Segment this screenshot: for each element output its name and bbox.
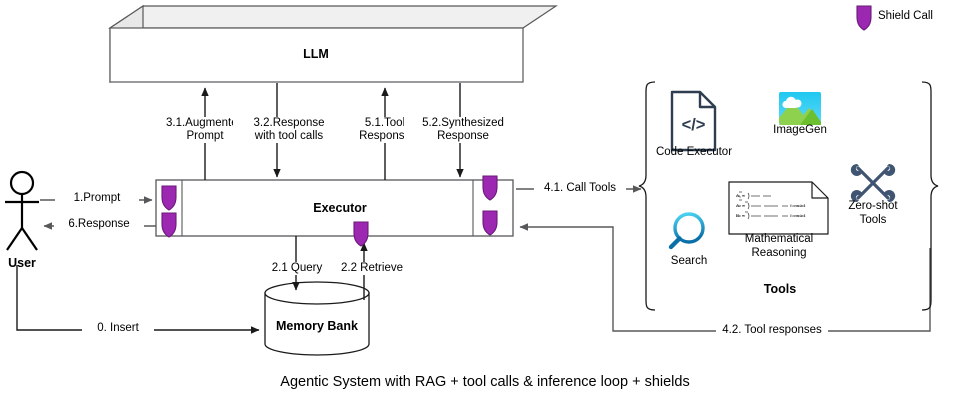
llm-node[interactable] [110, 6, 557, 82]
tools-group-label: Tools [735, 283, 825, 297]
tool-label-zero-shot-tools: Zero-shotTools [835, 200, 911, 227]
flow-label-tool-responses: 4.2. Tool responses [716, 324, 828, 337]
user-label: User [0, 256, 54, 270]
flow-label-query: 2.1 Query [258, 262, 336, 275]
tool-label-math-reasoning: MathematicalReasoning [730, 233, 828, 260]
flow-label-retrieve: 2.2 Retrieve [330, 262, 414, 275]
svg-text:for n ≥ 1: for n ≥ 1 [790, 213, 807, 218]
crossed-wrenches-icon [851, 164, 895, 202]
math-label-line1: Mathematical [745, 233, 813, 245]
tool-label-imagegen: ImageGen [760, 124, 840, 138]
diagram-canvas: </> [0, 0, 970, 411]
tool-label-code-executor: Code Executor [644, 146, 744, 160]
flow-tool-responses-arrow [520, 227, 930, 331]
flow-label-call-tools: 4.1. Call Tools [534, 182, 626, 195]
llm-label: LLM [196, 47, 436, 61]
synthesized-line2: Response [437, 130, 489, 142]
flow-label-prompt: 1.Prompt [55, 192, 139, 205]
flow-insert-arrow [17, 265, 259, 330]
shield-icon-legend [857, 6, 871, 30]
response-tool-calls-line1: 3.2.Response [254, 117, 325, 129]
flow-label-response: 6.Response [54, 218, 144, 231]
executor-label: Executor [240, 201, 440, 215]
memory-bank-label: Memory Bank [257, 319, 377, 333]
tool-response-line1: 5.1.Tool [365, 117, 405, 129]
magnifier-icon [671, 214, 703, 247]
diagram-vector-layer: </> [0, 0, 970, 411]
image-picture-icon [779, 92, 821, 125]
zeroshot-label-line1: Zero-shot [848, 200, 897, 212]
flow-label-response-tool-calls: 3.2.Responsewith tool calls [233, 117, 345, 143]
svg-text:for n ≥ 1: for n ≥ 1 [790, 203, 807, 208]
tools-group-left-brace [639, 82, 655, 310]
formula-document-icon: A₀ = Aₙ = Bₙ = for n ≥ 1 for n ≥ 1 [729, 182, 828, 234]
code-document-icon: </> [672, 92, 715, 150]
response-tool-calls-line2: with tool calls [255, 130, 323, 142]
augmented-prompt-line2: Prompt [186, 130, 223, 142]
flow-label-insert: 0. Insert [82, 322, 154, 335]
legend-shield-label: Shield Call [878, 10, 933, 22]
svg-text:A₀ =: A₀ = [736, 193, 745, 198]
svg-text:Aₙ =: Aₙ = [736, 203, 745, 208]
user-actor[interactable] [5, 172, 39, 250]
tool-label-search: Search [654, 255, 724, 269]
svg-text:</>: </> [682, 116, 706, 134]
diagram-caption: Agentic System with RAG + tool calls & i… [0, 374, 970, 390]
zeroshot-label-line2: Tools [860, 214, 887, 226]
shield-icon-memory [354, 222, 368, 246]
svg-text:Bₙ =: Bₙ = [736, 213, 745, 218]
synthesized-line1: 5.2.Synthesized [422, 117, 504, 129]
math-label-line2: Reasoning [752, 247, 807, 259]
flow-label-synthesized-response: 5.2.SynthesizedResponse [404, 117, 522, 143]
